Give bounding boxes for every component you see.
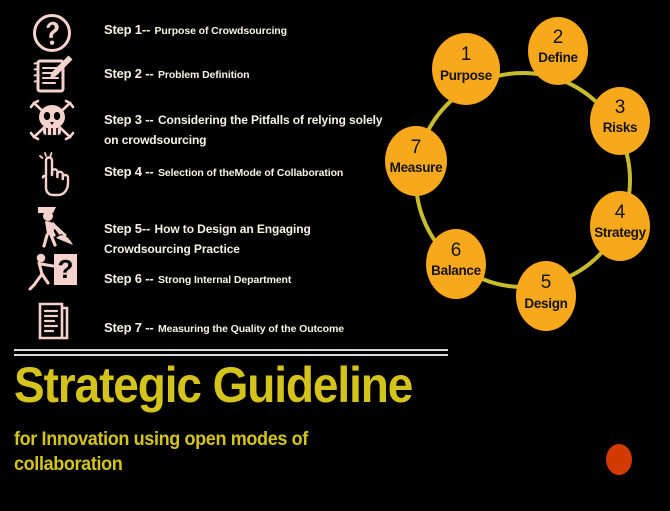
accent-dot [606,444,632,475]
node-label: Measure [390,160,443,175]
cycle-node-5: 5 Design [516,261,576,331]
step-description: Measuring the Quality of the Outcome [158,323,344,335]
step-label: Step 2 -- [104,66,153,81]
step-label: Step 3 -- [104,112,153,127]
node-label: Balance [431,263,481,278]
cycle-node-2: 2 Define [528,17,588,85]
cycle-node-1: 1 Purpose [432,33,500,105]
node-label: Define [538,50,578,65]
node-number: 1 [461,44,472,65]
notepad-pencil-icon [22,52,82,96]
cycle-node-7: 7 Measure [385,126,447,196]
node-number: 7 [411,137,422,158]
node-label: Design [524,296,567,311]
step-list: Step 1-- Purpose of Crowdsourcing [0,0,400,345]
question-mark-circle-icon [22,10,82,56]
divider-rule-bottom [14,354,448,356]
step-label: Step 6 -- [104,271,153,286]
page-title: Strategic Guideline [14,360,446,410]
step-description: Problem Definition [158,69,250,81]
measuring-beaker-icon [22,300,82,344]
step-label: Step 7 -- [104,320,153,335]
skull-crossbones-icon [22,97,82,145]
crowdsourcing-cycle-diagram: 1 Purpose 2 Define 3 Risks 4 Strategy [376,8,670,343]
node-number: 4 [615,202,626,223]
list-item-text: Step 7 -- Measuring the Quality of the O… [104,318,389,338]
list-item-text: Step 6 -- Strong Internal Department [104,269,389,289]
list-item-text: Step 3 -- Considering the Pitfalls of re… [104,110,389,149]
title-divider [14,349,448,356]
step-label: Step 4 -- [104,164,153,179]
step-description: Selection of theMode of Collaboration [158,167,343,179]
node-number: 5 [541,272,552,293]
step-description: Purpose of Crowdsourcing [155,25,287,37]
pointing-hand-icon [22,152,82,198]
title-block: Strategic Guideline for Innovation using… [14,360,484,477]
list-item-text: Step 2 -- Problem Definition [104,64,389,84]
svg-text:?: ? [58,254,74,284]
divider-rule-top [14,349,448,351]
worker-digging-icon [22,203,82,249]
node-label: Purpose [440,68,493,83]
step-description: Strong Internal Department [158,274,291,286]
person-pushing-question-block-icon: ? [22,251,82,293]
step-label: Step 5-- [104,221,150,236]
node-label: Strategy [594,225,646,240]
page-subtitle: for Innovation using open modes of colla… [14,428,328,477]
node-number: 2 [553,27,564,48]
infographic-canvas: Step 1-- Purpose of Crowdsourcing [0,0,670,511]
cycle-node-3: 3 Risks [590,87,650,155]
list-item-text: Step 5-- How to Design an Engaging Crowd… [104,219,389,258]
list-item-text: Step 4 -- Selection of theMode of Collab… [104,162,389,182]
cycle-node-6: 6 Balance [426,229,486,299]
step-label: Step 1-- [104,22,150,37]
list-item-text: Step 1-- Purpose of Crowdsourcing [104,20,389,40]
cycle-node-4: 4 Strategy [590,191,650,261]
node-label: Risks [603,120,638,135]
node-number: 6 [451,240,462,261]
node-number: 3 [615,97,626,118]
